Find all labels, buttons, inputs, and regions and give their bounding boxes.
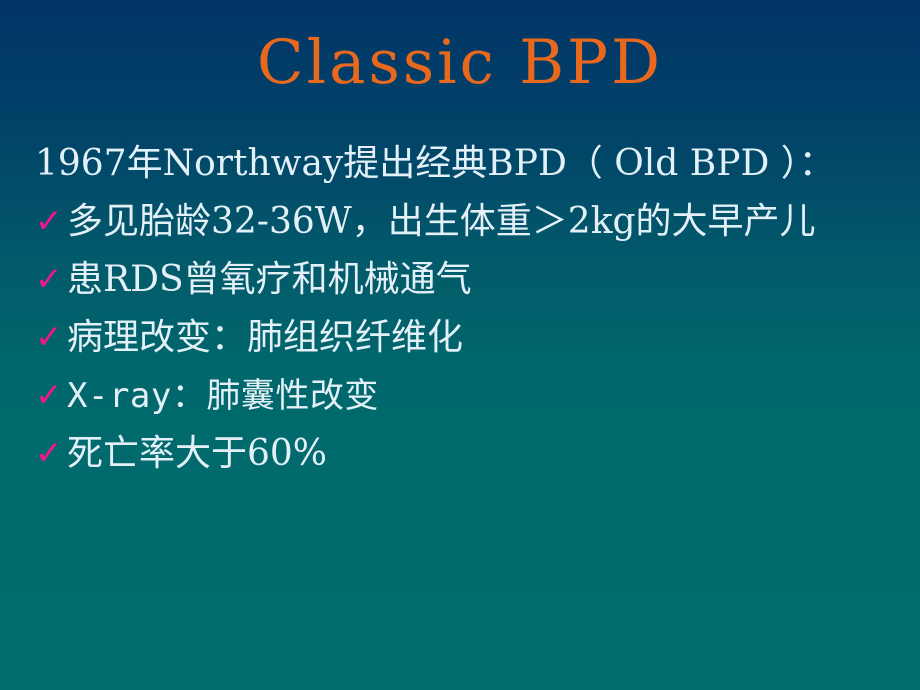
check-icon: ✓ [33, 253, 67, 305]
slide-title-container: Classic BPD [0, 28, 920, 98]
bullet-item-3: ✓ 病理改变：肺组织纤维化 [33, 311, 913, 369]
check-icon: ✓ [33, 427, 67, 479]
presentation-slide: Classic BPD 1967年Northway提出经典BPD（ Old BP… [0, 0, 920, 690]
page-title: Classic BPD [257, 28, 663, 98]
body-line-1: 1967年Northway提出经典BPD（ Old BPD ）： [33, 137, 913, 195]
bullet-item-5: ✓ 死亡率大于60% [33, 427, 913, 485]
bullet-item-4-label: X-ray：肺囊性改变 [67, 369, 913, 423]
check-icon: ✓ [33, 195, 67, 247]
check-icon: ✓ [33, 311, 67, 363]
bullet-item-1: ✓ 多见胎龄32-36W，出生体重＞2kg的大早产儿 [33, 195, 913, 253]
bullet-item-3-label: 病理改变：肺组织纤维化 [67, 311, 913, 365]
bullet-item-1-label: 多见胎龄32-36W，出生体重＞2kg的大早产儿 [67, 195, 913, 249]
check-icon: ✓ [33, 369, 67, 421]
bullet-item-2: ✓ 患RDS曾氧疗和机械通气 [33, 253, 913, 311]
bullet-item-2-label: 患RDS曾氧疗和机械通气 [67, 253, 913, 307]
bullet-item-4: ✓ X-ray：肺囊性改变 [33, 369, 913, 427]
slide-body: 1967年Northway提出经典BPD（ Old BPD ）： ✓ 多见胎龄3… [33, 137, 913, 485]
bullet-item-5-label: 死亡率大于60% [67, 427, 913, 481]
